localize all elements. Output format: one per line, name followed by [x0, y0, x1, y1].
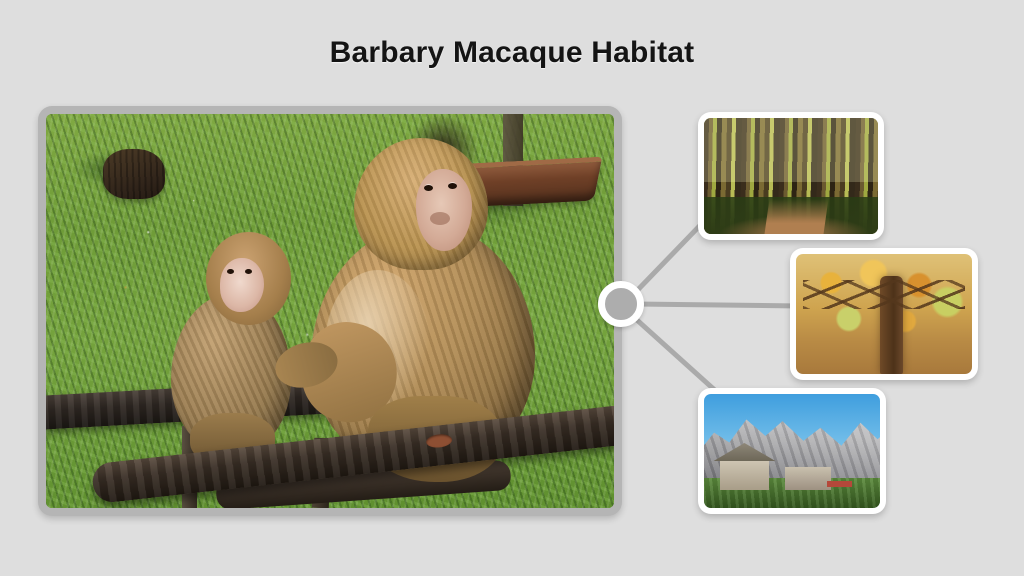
adult-macaque-face [416, 169, 472, 251]
thumbnail-conifer-forest[interactable] [698, 112, 884, 240]
red-roof [827, 481, 852, 488]
adult-macaque-eye-left [424, 185, 433, 191]
alpine-hut-primary [720, 460, 769, 490]
thumbnail-conifer-forest-image [704, 118, 878, 234]
alpine-mountains-art [704, 394, 880, 508]
adult-macaque-eye-right [448, 183, 457, 189]
juvenile-macaque-face [220, 258, 264, 312]
adult-macaque-muzzle [430, 212, 450, 225]
juvenile-macaque [171, 232, 307, 453]
hero-photo-frame[interactable] [38, 106, 622, 516]
juvenile-macaque-head [206, 232, 291, 325]
alpine-hut-secondary [785, 467, 831, 490]
connector-line-oak [632, 304, 800, 306]
adult-macaque-head [354, 138, 488, 270]
hero-photo-image [46, 114, 614, 508]
autumn-oak-art [796, 254, 972, 374]
juvenile-macaque-eye-left [227, 269, 234, 274]
thumbnail-autumn-oak-image [796, 254, 972, 374]
habitat-hub-node[interactable] [598, 281, 644, 327]
thumbnail-alpine-mountains-image [704, 394, 880, 508]
slide-canvas: Barbary Macaque Habitat [0, 0, 1024, 576]
tree-stump [103, 149, 165, 199]
thumbnail-autumn-oak[interactable] [790, 248, 978, 380]
conifer-forest-art [704, 118, 878, 234]
thumbnail-alpine-mountains[interactable] [698, 388, 886, 514]
